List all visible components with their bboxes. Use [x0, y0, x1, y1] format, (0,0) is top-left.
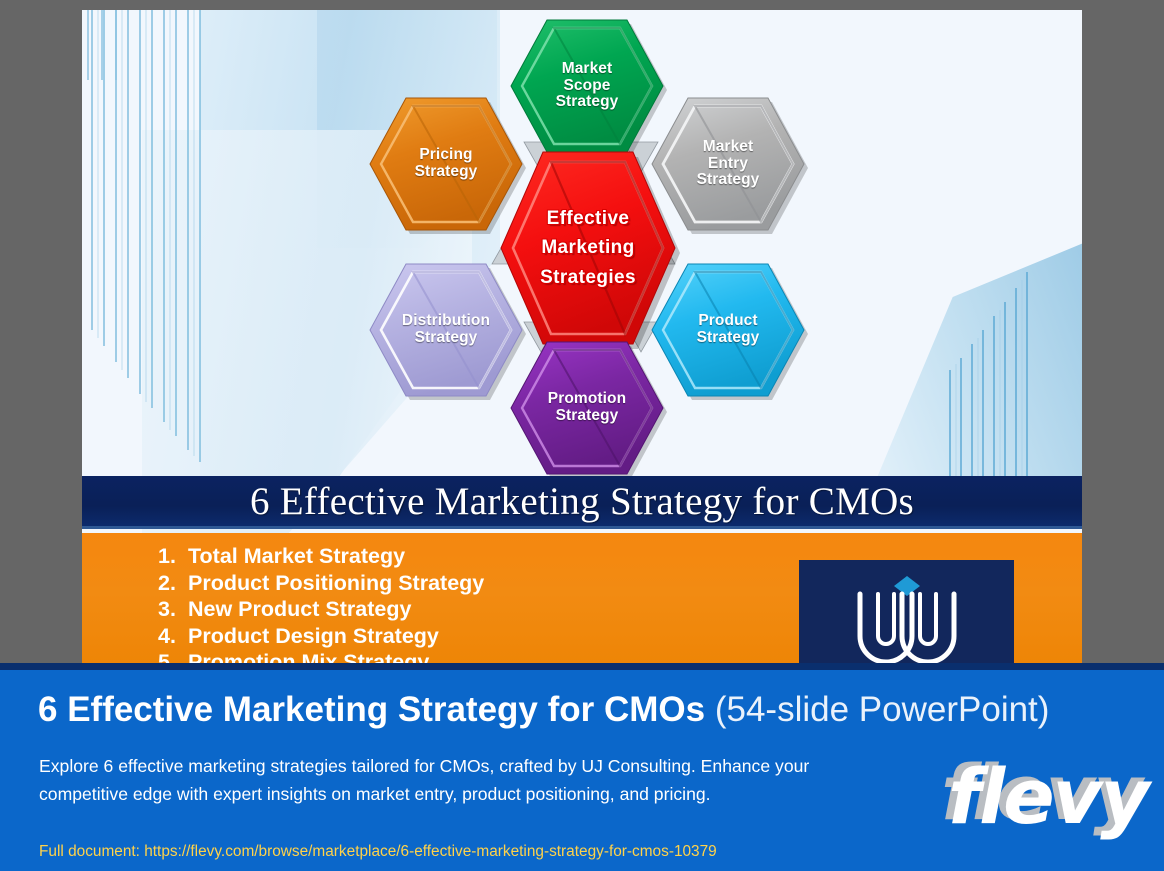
- uj-consulting-logo: [799, 560, 1014, 665]
- list-item-number: 2.: [158, 570, 188, 597]
- background-lines-top: [82, 10, 222, 80]
- slide-title-band: 6 Effective Marketing Strategy for CMOs: [82, 476, 1082, 529]
- list-item: 2. Product Positioning Strategy: [158, 570, 484, 597]
- hexagon-diagram: Pricing Strategy Market Scope Strategy: [372, 12, 812, 482]
- list-item-text: Total Market Strategy: [188, 543, 405, 570]
- uj-logo-mark: [832, 568, 982, 665]
- list-item: 1. Total Market Strategy: [158, 543, 484, 570]
- banner-description: Explore 6 effective marketing strategies…: [39, 752, 839, 808]
- flevy-brand-logo[interactable]: flevy flevy: [948, 757, 1158, 837]
- list-item: 3. New Product Strategy: [158, 596, 484, 623]
- flevy-logo-text: flevy: [948, 757, 1148, 837]
- hexagon-distribution-strategy[interactable]: Distribution Strategy: [366, 260, 526, 400]
- banner-document-url[interactable]: Full document: https://flevy.com/browse/…: [39, 843, 717, 861]
- banner-title-sub: (54-slide PowerPoint): [705, 690, 1049, 729]
- list-item-text: New Product Strategy: [188, 596, 411, 623]
- list-item: 4. Product Design Strategy: [158, 623, 484, 650]
- slide-list-band: 1. Total Market Strategy 2. Product Posi…: [82, 533, 1082, 665]
- slide-canvas: Pricing Strategy Market Scope Strategy: [82, 10, 1082, 665]
- list-item-text: Product Design Strategy: [188, 623, 439, 650]
- list-item-number: 3.: [158, 596, 188, 623]
- slide-title: 6 Effective Marketing Strategy for CMOs: [250, 479, 914, 524]
- strategy-list: 1. Total Market Strategy 2. Product Posi…: [158, 543, 484, 665]
- hexagon-market-scope-strategy[interactable]: Market Scope Strategy: [507, 16, 667, 156]
- hexagon-product-strategy[interactable]: Product Strategy: [648, 260, 808, 400]
- background-wedge-right: [871, 242, 1082, 492]
- list-item-text: Product Positioning Strategy: [188, 570, 484, 597]
- hexagon-promotion-strategy[interactable]: Promotion Strategy: [507, 338, 667, 478]
- list-item-number: 4.: [158, 623, 188, 650]
- banner-title: 6 Effective Marketing Strategy for CMOs …: [38, 690, 1049, 730]
- banner-title-main: 6 Effective Marketing Strategy for CMOs: [38, 690, 705, 729]
- background-lines-left: [82, 10, 314, 480]
- background-lines-right: [882, 250, 1082, 485]
- list-item-number: 1.: [158, 543, 188, 570]
